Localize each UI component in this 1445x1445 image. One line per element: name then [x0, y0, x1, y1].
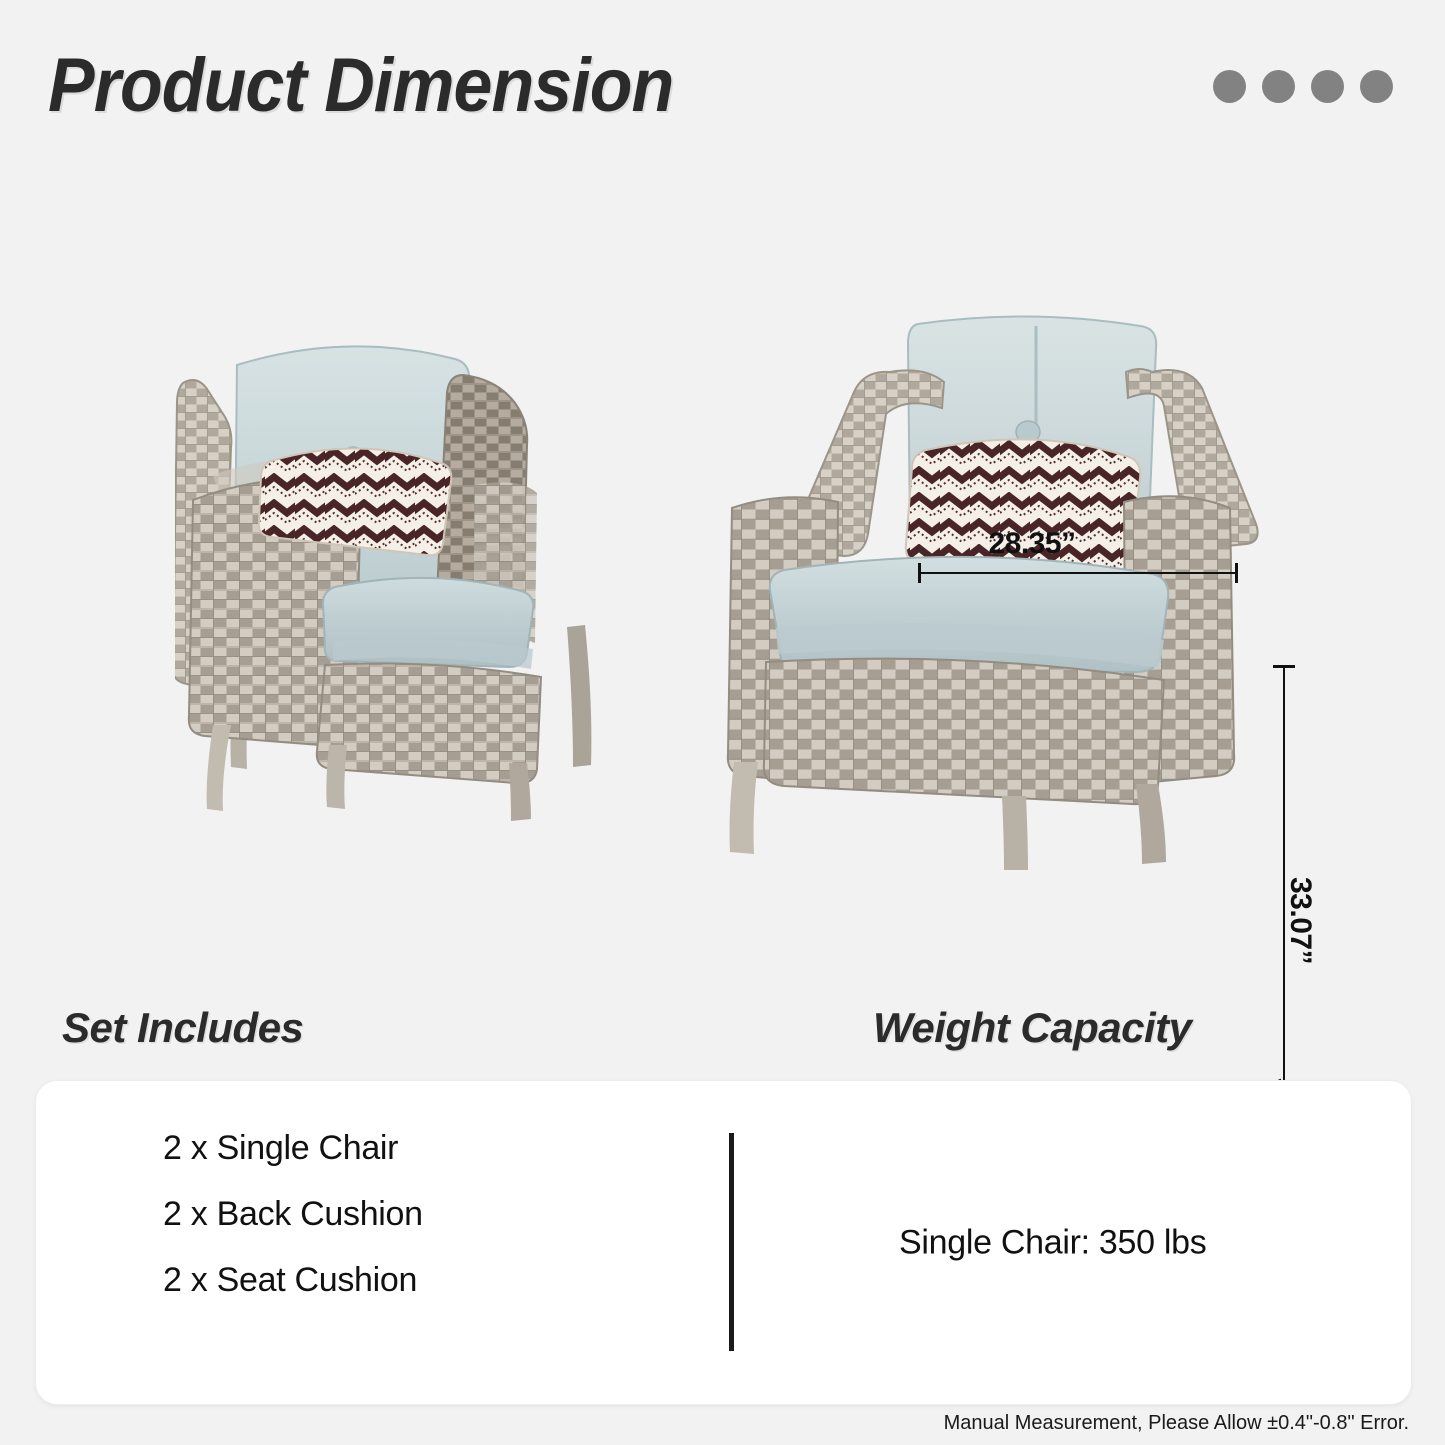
footer-disclaimer: Manual Measurement, Please Allow ±0.4"-0…	[944, 1412, 1409, 1435]
info-card: 2 x Single Chair 2 x Back Cushion 2 x Se…	[35, 1080, 1412, 1405]
chair-leg-front-left-2	[730, 762, 759, 854]
weight-capacity-heading: Weight Capacity	[873, 1004, 1191, 1052]
chair-image-right	[700, 310, 1260, 870]
indicator-dot-1	[1213, 70, 1246, 103]
indicator-dot-4	[1360, 70, 1393, 103]
height-dimension-label: 33.07”	[1283, 877, 1317, 964]
chair-leg-front-right-2	[1136, 784, 1166, 864]
set-includes-list: 2 x Single Chair 2 x Back Cushion 2 x Se…	[163, 1129, 423, 1300]
chair-leg-front-right	[509, 763, 531, 821]
list-item: 2 x Back Cushion	[163, 1195, 423, 1234]
chair-image-left	[175, 325, 645, 825]
card-divider	[729, 1133, 734, 1351]
set-includes-heading: Set Includes	[62, 1004, 303, 1052]
indicator-dot-2	[1262, 70, 1295, 103]
product-illustration-area: 28.35” 33.07” 32.68”	[0, 250, 1445, 980]
chair-leg-center	[1002, 796, 1028, 870]
chair-leg-back-right	[567, 625, 591, 767]
weight-capacity-value: Single Chair: 350 lbs	[899, 1223, 1206, 1262]
chair-front-apron-left	[317, 664, 541, 784]
list-item: 2 x Seat Cushion	[163, 1261, 423, 1300]
chair-leg-front-left	[326, 745, 347, 809]
width-dimension-label: 28.35”	[988, 527, 1075, 561]
page-indicator-dots	[1213, 70, 1393, 103]
page-title: Product Dimension	[48, 42, 673, 129]
throw-pillow-left	[259, 448, 452, 555]
indicator-dot-3	[1311, 70, 1344, 103]
chair-front-apron-right	[764, 659, 1164, 805]
width-dimension-line	[918, 572, 1238, 574]
list-item: 2 x Single Chair	[163, 1129, 423, 1168]
